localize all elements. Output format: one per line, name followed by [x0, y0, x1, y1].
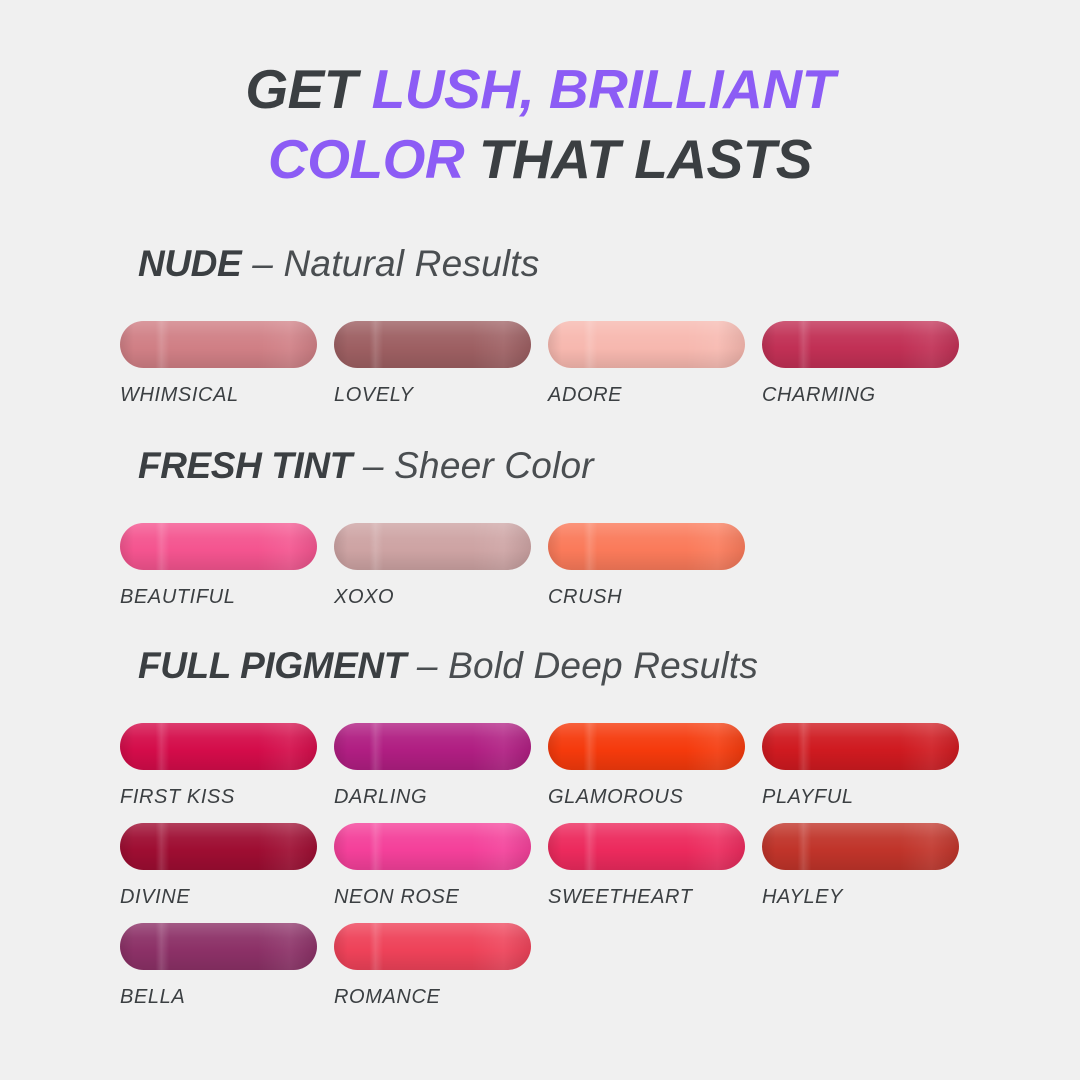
- swatch-color-charming[interactable]: [762, 321, 959, 368]
- swatch-label: PLAYFUL: [762, 786, 959, 809]
- page-headline: GET LUSH, BRILLIANT COLOR THAT LASTS: [0, 54, 1080, 195]
- section-description-text: Sheer Color: [394, 445, 594, 486]
- section-description: – Bold Deep Results: [417, 647, 758, 684]
- headline-line-2: COLOR THAT LASTS: [0, 124, 1080, 194]
- section-heading-full-pigment: FULL PIGMENT – Bold Deep Results: [138, 642, 1080, 688]
- swatch-color-whimsical[interactable]: [120, 321, 317, 368]
- swatch-cell-lovely[interactable]: LOVELY: [334, 321, 531, 421]
- swatch-color-xoxo[interactable]: [334, 523, 531, 570]
- swatch-label: ADORE: [548, 384, 745, 407]
- swatch-cell-divine[interactable]: DIVINE: [120, 823, 317, 923]
- swatch-cell-xoxo[interactable]: XOXO: [334, 523, 531, 623]
- swatch-grid-nude: WHIMSICAL LOVELY ADORE CHARMING: [0, 321, 1080, 421]
- swatch-label: BEAUTIFUL: [120, 586, 317, 609]
- swatch-color-sweetheart[interactable]: [548, 823, 745, 870]
- swatch-color-adore[interactable]: [548, 321, 745, 368]
- swatch-row: WHIMSICAL LOVELY ADORE CHARMING: [120, 321, 1080, 421]
- section-nude: NUDE – Natural Results WHIMSICAL LOVELY …: [0, 240, 1080, 421]
- section-fresh-tint: FRESH TINT – Sheer Color BEAUTIFUL XOXO …: [0, 442, 1080, 623]
- swatch-label: FIRST KISS: [120, 786, 317, 809]
- swatch-label: BELLA: [120, 986, 317, 1009]
- swatch-cell-hayley[interactable]: HAYLEY: [762, 823, 959, 923]
- swatch-label: DIVINE: [120, 886, 317, 909]
- swatch-cell-charming[interactable]: CHARMING: [762, 321, 959, 421]
- swatch-color-crush[interactable]: [548, 523, 745, 570]
- swatch-color-playful[interactable]: [762, 723, 959, 770]
- swatch-color-first-kiss[interactable]: [120, 723, 317, 770]
- swatch-grid-fresh-tint: BEAUTIFUL XOXO CRUSH: [0, 523, 1080, 623]
- section-description-text: Natural Results: [284, 243, 540, 284]
- swatch-label: WHIMSICAL: [120, 384, 317, 407]
- headline-text-lush-brilliant: LUSH, BRILLIANT: [372, 58, 835, 120]
- swatch-color-glamorous[interactable]: [548, 723, 745, 770]
- swatch-row: FIRST KISS DARLING GLAMOROUS PLAYFUL: [120, 723, 1080, 823]
- section-full-pigment: FULL PIGMENT – Bold Deep Results FIRST K…: [0, 642, 1080, 1023]
- swatch-grid-full-pigment: FIRST KISS DARLING GLAMOROUS PLAYFUL: [0, 723, 1080, 1023]
- section-description: – Natural Results: [252, 245, 539, 282]
- section-separator: –: [252, 243, 273, 284]
- swatch-cell-bella[interactable]: BELLA: [120, 923, 317, 1023]
- swatch-color-bella[interactable]: [120, 923, 317, 970]
- swatch-row: DIVINE NEON ROSE SWEETHEART HAYLEY: [120, 823, 1080, 923]
- headline-text-that-lasts: THAT LASTS: [464, 128, 812, 190]
- swatch-cell-darling[interactable]: DARLING: [334, 723, 531, 823]
- section-name: FRESH TINT: [138, 447, 352, 484]
- shade-chart-page: GET LUSH, BRILLIANT COLOR THAT LASTS NUD…: [0, 0, 1080, 1080]
- swatch-cell-whimsical[interactable]: WHIMSICAL: [120, 321, 317, 421]
- section-separator: –: [417, 645, 438, 686]
- swatch-cell-adore[interactable]: ADORE: [548, 321, 745, 421]
- swatch-row: BEAUTIFUL XOXO CRUSH: [120, 523, 1080, 623]
- swatch-row: BELLA ROMANCE: [120, 923, 1080, 1023]
- swatch-cell-sweetheart[interactable]: SWEETHEART: [548, 823, 745, 923]
- swatch-label: XOXO: [334, 586, 531, 609]
- headline-text-color: COLOR: [268, 128, 464, 190]
- swatch-color-neon-rose[interactable]: [334, 823, 531, 870]
- swatch-cell-beautiful[interactable]: BEAUTIFUL: [120, 523, 317, 623]
- swatch-label: DARLING: [334, 786, 531, 809]
- swatch-color-beautiful[interactable]: [120, 523, 317, 570]
- swatch-cell-first-kiss[interactable]: FIRST KISS: [120, 723, 317, 823]
- swatch-label: CHARMING: [762, 384, 959, 407]
- section-description-text: Bold Deep Results: [448, 645, 758, 686]
- swatch-cell-glamorous[interactable]: GLAMOROUS: [548, 723, 745, 823]
- headline-line-1: GET LUSH, BRILLIANT: [0, 54, 1080, 124]
- headline-text-get: GET: [245, 58, 371, 120]
- swatch-cell-romance[interactable]: ROMANCE: [334, 923, 531, 1023]
- swatch-label: LOVELY: [334, 384, 531, 407]
- swatch-color-hayley[interactable]: [762, 823, 959, 870]
- section-name: FULL PIGMENT: [138, 647, 406, 684]
- swatch-color-divine[interactable]: [120, 823, 317, 870]
- swatch-label: GLAMOROUS: [548, 786, 745, 809]
- swatch-color-lovely[interactable]: [334, 321, 531, 368]
- swatch-label: NEON ROSE: [334, 886, 531, 909]
- swatch-label: HAYLEY: [762, 886, 959, 909]
- swatch-color-romance[interactable]: [334, 923, 531, 970]
- section-description: – Sheer Color: [363, 447, 594, 484]
- section-heading-fresh-tint: FRESH TINT – Sheer Color: [138, 442, 1080, 488]
- section-name: NUDE: [138, 245, 241, 282]
- swatch-label: ROMANCE: [334, 986, 531, 1009]
- swatch-label: CRUSH: [548, 586, 745, 609]
- section-separator: –: [363, 445, 384, 486]
- swatch-cell-playful[interactable]: PLAYFUL: [762, 723, 959, 823]
- swatch-label: SWEETHEART: [548, 886, 745, 909]
- swatch-cell-crush[interactable]: CRUSH: [548, 523, 745, 623]
- swatch-color-darling[interactable]: [334, 723, 531, 770]
- swatch-cell-neon-rose[interactable]: NEON ROSE: [334, 823, 531, 923]
- section-heading-nude: NUDE – Natural Results: [138, 240, 1080, 286]
